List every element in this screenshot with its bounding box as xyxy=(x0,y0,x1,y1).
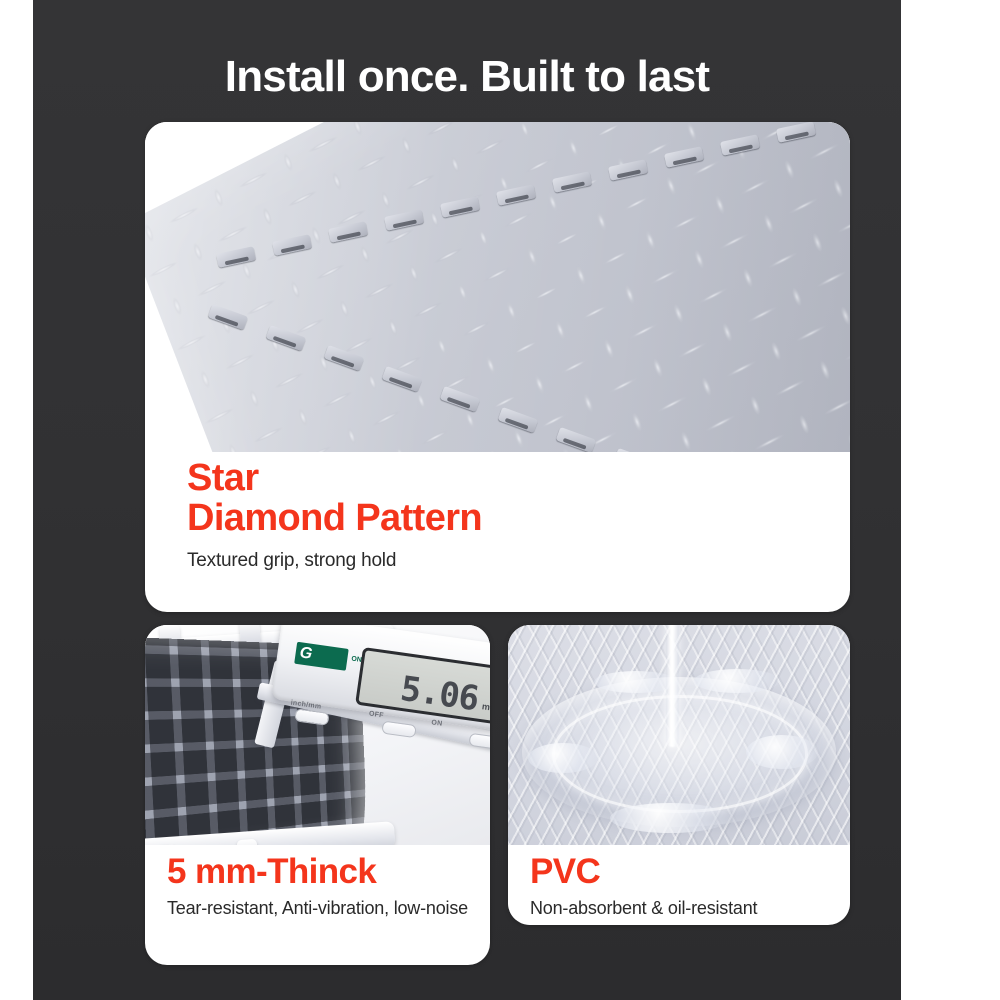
hero-image-stage xyxy=(145,122,850,452)
thickness-card-title: 5 mm-Thinck xyxy=(167,853,490,890)
thickness-caliper-image: G ON 5.06 mm inch/mm OFF ON ZERO xyxy=(145,625,490,845)
caliper-button-zero xyxy=(468,733,490,751)
water-splash xyxy=(610,803,730,833)
page-title: Install once. Built to last xyxy=(33,54,901,100)
thickness-image-stage: G ON 5.06 mm inch/mm OFF ON ZERO xyxy=(145,625,490,845)
caliper-reading-value: 5.06 xyxy=(398,672,480,717)
pvc-card-text: PVC Non-absorbent & oil-resistant xyxy=(508,845,850,920)
thickness-card-text: 5 mm-Thinck Tear-resistant, Anti-vibrati… xyxy=(145,845,490,920)
pvc-card-subtitle: Non-absorbent & oil-resistant xyxy=(530,897,850,920)
water-stream xyxy=(666,625,679,747)
pvc-card-title: PVC xyxy=(530,853,850,890)
caliper-body: G ON 5.06 mm inch/mm OFF ON ZERO xyxy=(271,625,490,733)
feature-card-star-diamond[interactable]: Star Diamond Pattern Textured grip, stro… xyxy=(145,122,850,612)
infographic-page: Install once. Built to last Star Diamond… xyxy=(0,0,1000,1000)
pvc-image-stage xyxy=(508,625,850,845)
hero-card-title: Star Diamond Pattern xyxy=(187,458,850,539)
hero-card-subtitle: Textured grip, strong hold xyxy=(187,549,850,573)
feature-card-thickness[interactable]: G ON 5.06 mm inch/mm OFF ON ZERO xyxy=(145,625,490,965)
water-splash xyxy=(528,743,598,773)
caliper-reading-unit: mm xyxy=(481,701,490,713)
feature-card-pvc[interactable]: PVC Non-absorbent & oil-resistant xyxy=(508,625,850,925)
hero-card-title-line2: Diamond Pattern xyxy=(187,497,482,539)
pvc-water-image xyxy=(508,625,850,845)
water-splash xyxy=(694,669,780,693)
hero-card-text: Star Diamond Pattern Textured grip, stro… xyxy=(145,452,850,573)
hero-tile-image xyxy=(145,122,850,452)
thickness-card-subtitle: Tear-resistant, Anti-vibration, low-nois… xyxy=(167,897,490,920)
caliper-brand-label: G xyxy=(294,642,349,671)
diamond-plate-tile xyxy=(145,122,850,452)
water-splash xyxy=(746,735,818,769)
tile-highlight-overlay xyxy=(145,122,850,452)
hero-card-title-line1: Star xyxy=(187,457,259,499)
